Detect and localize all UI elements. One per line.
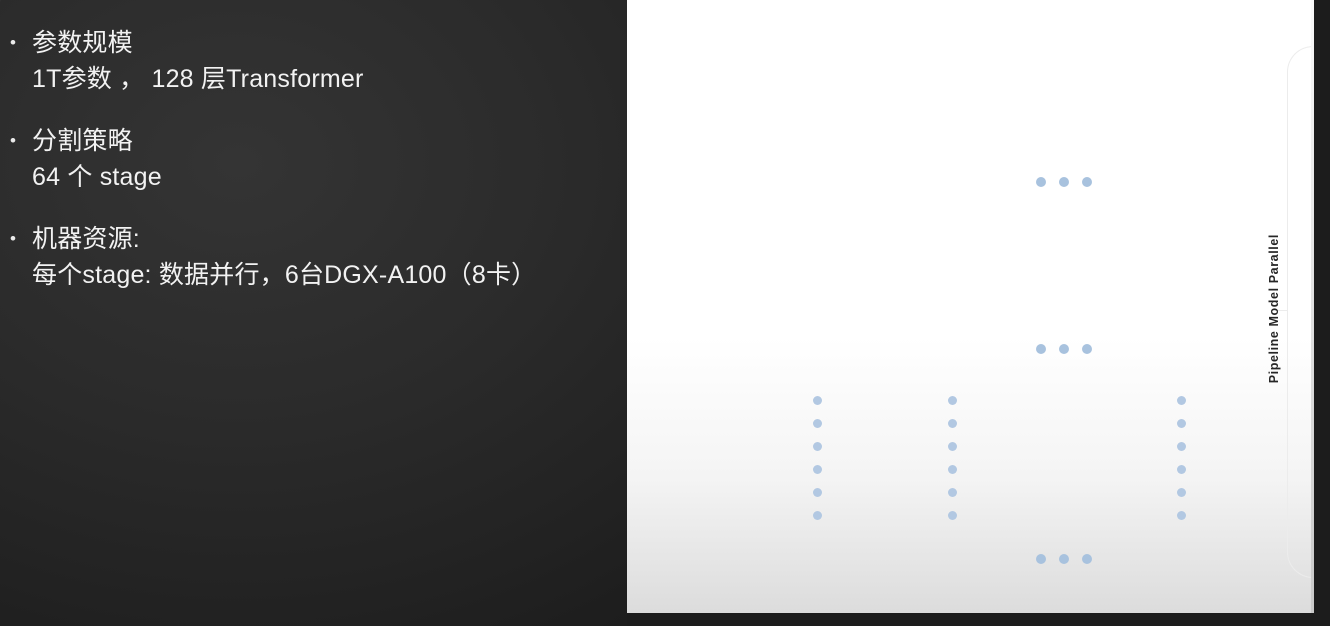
ellipsis-dot — [1059, 344, 1069, 354]
ellipsis-dot — [1036, 177, 1046, 187]
bullet-detail-3: 每个stage: 数据并行，6台DGX-A100（8卡） — [32, 256, 536, 294]
ellipsis-dot — [1036, 344, 1046, 354]
bullet-title-3: 机器资源: — [32, 222, 140, 256]
ellipsis-dot — [1082, 177, 1092, 187]
ellipsis-dot — [1059, 554, 1069, 564]
slide-text-panel: • 参数规模 1T参数 ， 128 层Transformer • 分割策略 64… — [0, 0, 627, 626]
ellipsis-dot — [1082, 554, 1092, 564]
screenshot-root: • 参数规模 1T参数 ， 128 层Transformer • 分割策略 64… — [0, 0, 1330, 626]
bullet-marker-icon: • — [10, 222, 32, 256]
bullet-marker-icon: • — [10, 26, 32, 60]
panel-right-edge — [1311, 0, 1314, 613]
pipeline-parallel-brace — [1287, 46, 1311, 578]
bullet-detail-1: 1T参数 ， 128 层Transformer — [32, 60, 364, 98]
bullet-detail-2: 64 个 stage — [32, 158, 162, 196]
ellipsis-dot — [1036, 554, 1046, 564]
bullet-title-2: 分割策略 — [32, 124, 133, 158]
bullet-marker-icon: • — [10, 124, 32, 158]
bullet-item-2: • 分割策略 64 个 stage — [10, 124, 162, 196]
bullet-title-1: 参数规模 — [32, 26, 133, 60]
ellipsis-dot — [1059, 177, 1069, 187]
bullet-item-1: • 参数规模 1T参数 ， 128 层Transformer — [10, 26, 364, 98]
bullet-item-3: • 机器资源: 每个stage: 数据并行，6台DGX-A100（8卡） — [10, 222, 536, 294]
ellipsis-dot — [1082, 344, 1092, 354]
diagram-panel: Data Parallel Tensor Model Parallel Pipe… — [627, 0, 1311, 613]
pipeline-model-parallel-label: Pipeline Model Parallel — [1267, 234, 1281, 383]
